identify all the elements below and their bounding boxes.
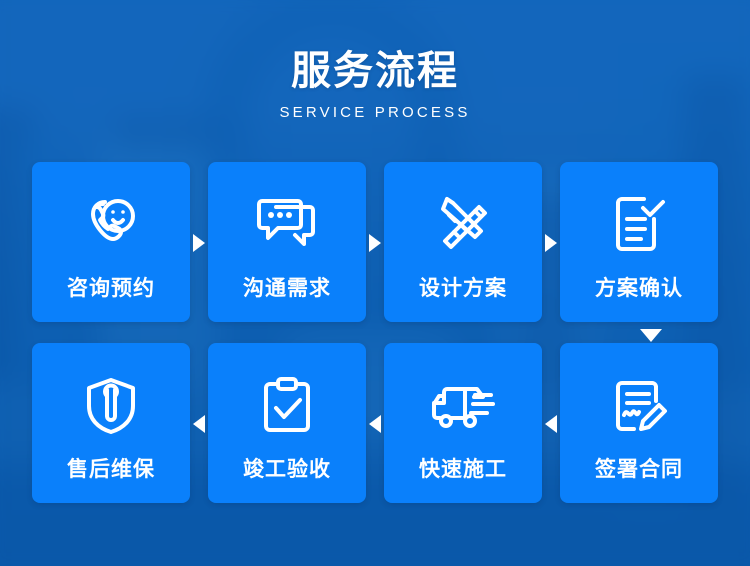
process-card-label: 售后维保 <box>67 456 155 484</box>
process-card-contract[interactable]: 签署合同 <box>560 343 718 503</box>
process-row-bottom: 售后维保 竣工验收 <box>32 343 718 503</box>
chat-bubbles-icon <box>251 189 323 261</box>
banner-header: 服务流程 SERVICE PROCESS <box>0 46 750 124</box>
process-card-design[interactable]: 设计方案 <box>384 162 542 322</box>
clipboard-check-icon <box>251 370 323 442</box>
process-card-acceptance[interactable]: 竣工验收 <box>208 343 366 503</box>
process-card-label: 快速施工 <box>419 456 507 484</box>
process-card-label: 沟通需求 <box>243 275 331 303</box>
process-grid: 咨询预约 沟通需求 <box>32 162 718 503</box>
process-card-communication[interactable]: 沟通需求 <box>208 162 366 322</box>
delivery-truck-icon <box>427 370 499 442</box>
process-card-label: 签署合同 <box>595 456 683 484</box>
arrow-left-icon <box>545 415 557 433</box>
service-process-banner: 服务流程 SERVICE PROCESS 咨询预约 <box>0 0 750 566</box>
pencil-ruler-icon <box>427 189 499 261</box>
arrow-right-icon <box>193 234 205 252</box>
process-card-maintenance[interactable]: 售后维保 <box>32 343 190 503</box>
process-card-label: 咨询预约 <box>67 275 155 303</box>
arrow-down-icon <box>640 329 662 342</box>
process-card-consultation[interactable]: 咨询预约 <box>32 162 190 322</box>
process-card-label: 设计方案 <box>419 275 507 303</box>
arrow-left-icon <box>369 415 381 433</box>
process-card-construction[interactable]: 快速施工 <box>384 343 542 503</box>
arrow-right-icon <box>369 234 381 252</box>
page-title: 服务流程 <box>0 46 750 96</box>
arrow-left-icon <box>193 415 205 433</box>
contract-signature-icon <box>603 370 675 442</box>
phone-smiley-icon <box>75 189 147 261</box>
page-subtitle: SERVICE PROCESS <box>0 102 750 124</box>
arrow-right-icon <box>545 234 557 252</box>
process-card-label: 竣工验收 <box>243 456 331 484</box>
document-check-icon <box>603 189 675 261</box>
process-card-plan-confirm[interactable]: 方案确认 <box>560 162 718 322</box>
process-row-top: 咨询预约 沟通需求 <box>32 162 718 322</box>
shield-wrench-icon <box>75 370 147 442</box>
process-card-label: 方案确认 <box>595 275 683 303</box>
